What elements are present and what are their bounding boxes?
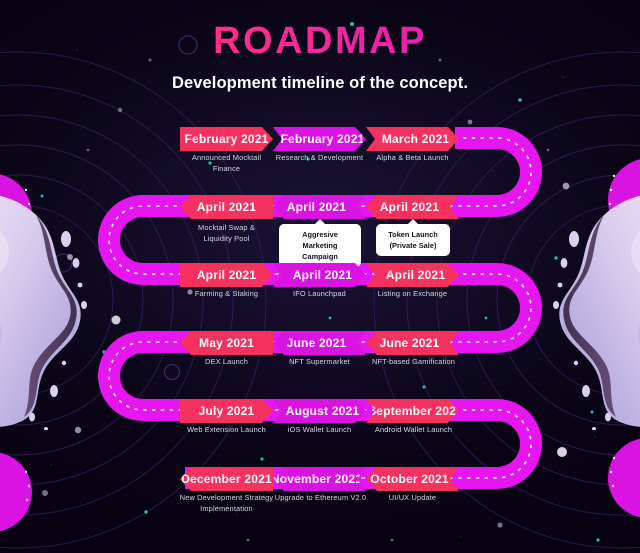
milestone-banner[interactable]: February 2021	[180, 127, 273, 151]
milestone-caption: NFT-based Gamification	[366, 357, 461, 368]
milestone-label: September 2021	[368, 404, 463, 418]
roadmap-row: February 2021 February 2021 March 2021 A…	[0, 127, 640, 151]
milestone-caption: UI/UX Update	[366, 493, 459, 504]
milestone-caption: Web Extension Launch	[178, 425, 275, 436]
milestone-banner[interactable]: July 2021	[180, 399, 273, 423]
milestone-label: April 2021	[380, 200, 439, 214]
milestone-label: April 2021	[197, 200, 256, 214]
milestone-banner[interactable]: September 2021	[366, 399, 459, 423]
milestone-label: November 2021	[271, 472, 362, 486]
milestone-label: April 2021	[386, 268, 445, 282]
milestone-label: April 2021	[287, 200, 346, 214]
milestone-caption: Upgrade to Ethereum V2.0	[271, 493, 370, 504]
milestone-label: December 2021	[181, 472, 272, 486]
milestone-label: April 2021	[293, 268, 352, 282]
milestone-banner[interactable]: March 2021	[366, 127, 459, 151]
milestone-caption: Alpha & Beta Launch	[366, 153, 459, 164]
roadmap-row: December 2021 November 2021 October 2021…	[0, 467, 640, 491]
milestone-banner[interactable]: November 2021	[273, 467, 366, 491]
milestone-label: July 2021	[199, 404, 255, 418]
milestone-caption: NFT Supermarket	[273, 357, 366, 368]
roadmap-row: April 2021 April 2021 April 2021 Farming…	[0, 263, 640, 287]
milestone-banner[interactable]: October 2021	[366, 467, 459, 491]
milestone-label: June 2021	[380, 336, 440, 350]
roadmap-row: May 2021 June 2021 June 2021 DEX Launch …	[0, 331, 640, 355]
page-title: ROADMAP	[0, 22, 640, 60]
header: ROADMAP Development timeline of the conc…	[0, 22, 640, 93]
milestone-caption: Research & Development	[273, 153, 366, 164]
page-subtitle: Development timeline of the concept.	[0, 74, 640, 93]
milestone-banner[interactable]: June 2021	[273, 331, 366, 355]
milestone-label: March 2021	[382, 132, 449, 146]
milestone-caption: iOS Wallet Launch	[273, 425, 366, 436]
milestone-caption: Mocktail Swap & Liquidity Pool	[180, 223, 273, 244]
milestone-banner[interactable]: April 2021	[366, 263, 459, 287]
milestone-caption: Farming & Staking	[180, 289, 273, 300]
milestone-banner[interactable]: June 2021	[366, 331, 459, 355]
milestone-caption: Listing on Exchange	[366, 289, 459, 300]
milestone-banner[interactable]: April 2021	[273, 195, 366, 219]
milestone-label: August 2021	[286, 404, 360, 418]
milestone-banner[interactable]: April 2021	[180, 195, 273, 219]
milestone-label: April 2021	[197, 268, 256, 282]
milestone-banner[interactable]: April 2021	[180, 263, 273, 287]
milestone-label: February 2021	[185, 132, 269, 146]
milestone-banner[interactable]: April 2021	[366, 195, 459, 219]
milestone-label: October 2021	[370, 472, 448, 486]
milestone-label: May 2021	[199, 336, 254, 350]
milestone-label: June 2021	[287, 336, 347, 350]
milestone-caption: New Development Strategy Implementation	[176, 493, 277, 514]
milestone-caption: IFO Launchpad	[273, 289, 366, 300]
milestone-label: February 2021	[281, 132, 365, 146]
milestone-banner[interactable]: April 2021	[273, 263, 366, 287]
milestone-banner[interactable]: February 2021	[273, 127, 366, 151]
infographic-canvas: ROADMAP Development timeline of the conc…	[0, 0, 640, 553]
milestone-banner[interactable]: December 2021	[180, 467, 273, 491]
milestone-caption: Announced Mocktail Finance	[180, 153, 273, 174]
milestone-callout[interactable]: Token Launch (Private Sale)	[376, 224, 450, 256]
roadmap-row: July 2021 August 2021 September 2021 Web…	[0, 399, 640, 423]
milestone-caption: Android Wallet Launch	[366, 425, 461, 436]
milestone-caption: DEX Launch	[180, 357, 273, 368]
milestone-banner[interactable]: May 2021	[180, 331, 273, 355]
milestone-banner[interactable]: August 2021	[273, 399, 366, 423]
roadmap-row: April 2021 April 2021 April 2021 Mocktai…	[0, 195, 640, 219]
milestone-callout[interactable]: Aggresive Marketing Campaign	[279, 224, 361, 267]
